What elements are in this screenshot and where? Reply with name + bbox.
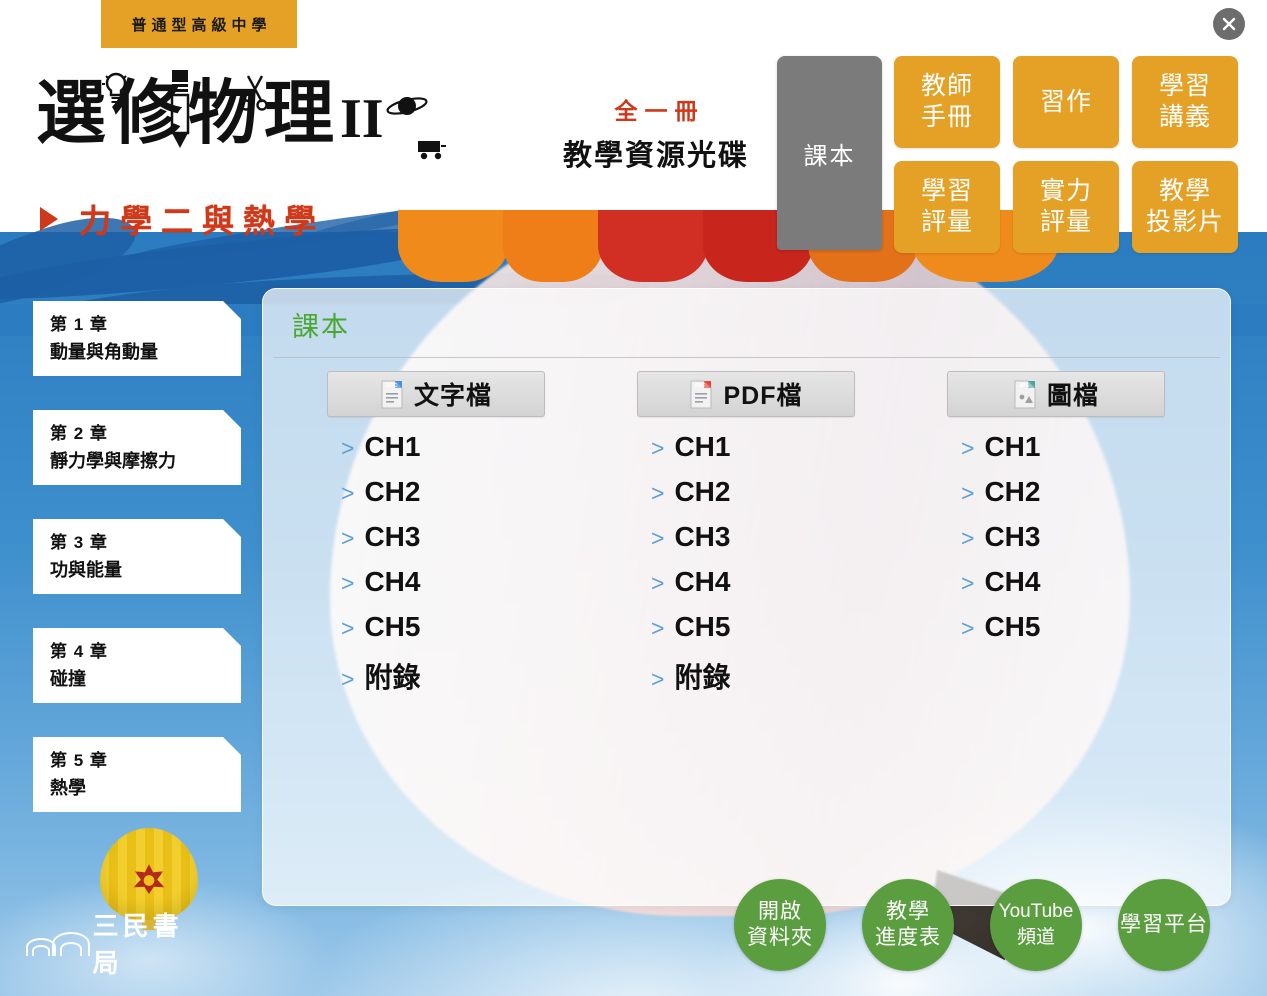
- chapter-4-number: 第 4 章: [50, 637, 108, 662]
- svg-text:JPG: JPG: [1019, 383, 1029, 389]
- topic-label: 力學二與熱學: [70, 196, 325, 242]
- topic-heading: 力學二與熱學: [40, 196, 325, 242]
- column-header-pdf-files[interactable]: PDF PDF檔: [637, 371, 855, 417]
- column-header-pdf-files-label: PDF檔: [723, 376, 802, 412]
- chapter-4-name: 碰撞: [50, 665, 86, 691]
- list-item-pdf-ch2[interactable]: > CH2: [651, 476, 901, 521]
- list-item-pdf-ch3-label: CH3: [674, 521, 730, 553]
- scissors-icon: [240, 72, 270, 112]
- tab-study-handout-line2: 講義: [1159, 102, 1211, 133]
- list-item-pdf-ch3[interactable]: > CH3: [651, 521, 901, 566]
- list-item-pdf-ch4-label: CH4: [674, 566, 730, 598]
- tab-study-assessment-line2: 評量: [921, 207, 973, 238]
- tab-textbook-label: 課本: [804, 136, 856, 171]
- column-header-image-files-label: 圖檔: [1047, 376, 1099, 412]
- chapter-2-name: 靜力學與摩擦力: [50, 447, 176, 473]
- learning-platform-line1: 學習平台: [1120, 912, 1208, 938]
- list-item-pdf-ch5[interactable]: > CH5: [651, 611, 901, 656]
- column-text-files: DOC 文字檔 > CH1 > CH2: [281, 371, 591, 701]
- action-buttons: 開啟 資料夾 教學 進度表 YouTube 頻道 學習平台: [728, 879, 1228, 979]
- tab-ability-assessment[interactable]: 實力 評量: [1013, 161, 1119, 253]
- planet-icon: [385, 92, 429, 120]
- list-item-pdf-ch1-label: CH1: [674, 431, 730, 463]
- tab-teacher-manual-line1: 教師: [921, 71, 973, 102]
- chevron-right-icon: >: [651, 527, 664, 550]
- tab-teacher-manual[interactable]: 教師 手冊: [894, 56, 1000, 148]
- pdf-file-icon: PDF: [689, 380, 713, 409]
- learning-platform-button[interactable]: 學習平台: [1118, 879, 1210, 971]
- list-item-text-ch2[interactable]: > CH2: [341, 476, 591, 521]
- list-item-image-ch2[interactable]: > CH2: [961, 476, 1211, 521]
- pencil-icon: [168, 70, 192, 148]
- list-item-pdf-ch4[interactable]: > CH4: [651, 566, 901, 611]
- page-title-volume: II: [340, 88, 384, 150]
- list-item-text-appendix[interactable]: > 附錄: [341, 656, 591, 701]
- tab-study-handout[interactable]: 學習 講義: [1132, 56, 1238, 148]
- resource-subtitle: 全一冊 教學資源光碟: [540, 92, 772, 174]
- list-item-text-ch4-label: CH4: [364, 566, 420, 598]
- youtube-channel-button[interactable]: YouTube 頻道: [990, 879, 1082, 971]
- list-item-text-ch5[interactable]: > CH5: [341, 611, 591, 656]
- school-level-label: 普通型高級中學: [126, 14, 271, 35]
- open-folder-line1: 開啟: [758, 899, 802, 925]
- column-header-text-files[interactable]: DOC 文字檔: [327, 371, 545, 417]
- chapter-5-number: 第 5 章: [50, 746, 108, 771]
- sanmin-arcs-icon: [26, 930, 85, 956]
- chapter-3-number: 第 3 章: [50, 528, 108, 553]
- chevron-right-icon: >: [651, 482, 664, 505]
- cart-icon: [415, 138, 449, 160]
- list-item-text-appendix-label: 附錄: [364, 656, 420, 696]
- svg-text:PDF: PDF: [695, 383, 705, 389]
- column-header-text-files-label: 文字檔: [414, 376, 492, 412]
- list-item-text-ch1[interactable]: > CH1: [341, 431, 591, 476]
- tab-teacher-manual-line2: 手冊: [921, 102, 973, 133]
- sidebar-item-chapter-2[interactable]: 第 2 章 靜力學與摩擦力: [33, 410, 241, 485]
- tab-study-assessment[interactable]: 學習 評量: [894, 161, 1000, 253]
- tab-teaching-slides-line2: 投影片: [1146, 207, 1224, 238]
- tab-workbook-line1: 習作: [1040, 87, 1092, 118]
- tab-textbook-active[interactable]: 課本: [777, 56, 882, 250]
- teaching-schedule-line2: 進度表: [875, 925, 941, 951]
- chevron-right-icon: >: [961, 437, 974, 460]
- sidebar-item-chapter-3[interactable]: 第 3 章 功與能量: [33, 519, 241, 594]
- teaching-schedule-line1: 教學: [886, 899, 930, 925]
- tab-teaching-slides[interactable]: 教學 投影片: [1132, 161, 1238, 253]
- youtube-channel-line2: 頻道: [1017, 925, 1055, 951]
- tab-ability-assessment-line2: 評量: [1040, 207, 1092, 238]
- chapter-5-name: 熱學: [50, 774, 86, 800]
- chevron-right-icon: >: [651, 437, 664, 460]
- doc-file-icon: DOC: [380, 380, 404, 409]
- list-item-text-ch1-label: CH1: [364, 431, 420, 463]
- chapter-1-number: 第 1 章: [50, 310, 108, 335]
- sidebar-item-chapter-4[interactable]: 第 4 章 碰撞: [33, 628, 241, 703]
- chevron-right-icon: >: [651, 617, 664, 640]
- svg-text:DOC: DOC: [386, 383, 398, 389]
- close-button[interactable]: [1213, 8, 1245, 40]
- list-item-pdf-ch2-label: CH2: [674, 476, 730, 508]
- list-item-pdf-ch1[interactable]: > CH1: [651, 431, 901, 476]
- open-folder-button[interactable]: 開啟 資料夾: [734, 879, 826, 971]
- chevron-right-icon: >: [961, 527, 974, 550]
- chevron-right-icon: >: [341, 572, 354, 595]
- publisher-logo: 三民書局: [26, 922, 206, 964]
- close-icon: [1220, 15, 1238, 33]
- list-item-image-ch3-label: CH3: [984, 521, 1040, 553]
- list-item-text-ch3-label: CH3: [364, 521, 420, 553]
- list-item-text-ch2-label: CH2: [364, 476, 420, 508]
- application-window: 普通型高級中學 選修物理II 全一冊 教學資源光碟 力學二與熱學: [0, 0, 1267, 996]
- column-pdf-files: PDF PDF檔 > CH1 > CH2: [591, 371, 901, 701]
- school-level-banner: 普通型高級中學: [101, 0, 297, 48]
- list-item-pdf-appendix[interactable]: > 附錄: [651, 656, 901, 701]
- list-item-pdf-ch5-label: CH5: [674, 611, 730, 643]
- chapter-1-name: 動量與角動量: [50, 338, 158, 364]
- pdf-file-list: > CH1 > CH2 > CH3 > CH4: [591, 431, 901, 701]
- list-item-image-ch3[interactable]: > CH3: [961, 521, 1211, 566]
- chevron-right-icon: >: [961, 617, 974, 640]
- list-item-image-ch1-label: CH1: [984, 431, 1040, 463]
- text-file-list: > CH1 > CH2 > CH3 > CH4: [281, 431, 591, 701]
- list-item-image-ch4[interactable]: > CH4: [961, 566, 1211, 611]
- panel-divider: [273, 357, 1220, 358]
- triangle-bullet-icon: [40, 207, 58, 231]
- panel-title: 課本: [292, 305, 350, 344]
- chevron-right-icon: >: [961, 572, 974, 595]
- resource-tab-grid: 教師 手冊 習作 學習 講義 學習 評量 實力 評量 教學 投影片: [894, 56, 1244, 253]
- file-type-columns: DOC 文字檔 > CH1 > CH2: [281, 371, 1211, 701]
- list-item-image-ch2-label: CH2: [984, 476, 1040, 508]
- list-item-image-ch4-label: CH4: [984, 566, 1040, 598]
- list-item-image-ch1[interactable]: > CH1: [961, 431, 1211, 476]
- youtube-channel-line1: YouTube: [999, 899, 1074, 925]
- column-image-files: JPG 圖檔 > CH1 > CH2 >: [901, 371, 1211, 701]
- chapter-2-number: 第 2 章: [50, 419, 108, 444]
- chevron-right-icon: >: [341, 527, 354, 550]
- tab-study-assessment-line1: 學習: [921, 176, 973, 207]
- teaching-schedule-button[interactable]: 教學 進度表: [862, 879, 954, 971]
- resource-disc-label: 教學資源光碟: [540, 132, 772, 174]
- chevron-right-icon: >: [341, 482, 354, 505]
- chevron-right-icon: >: [651, 572, 664, 595]
- column-header-image-files[interactable]: JPG 圖檔: [947, 371, 1165, 417]
- list-item-image-ch5[interactable]: > CH5: [961, 611, 1211, 656]
- tab-workbook[interactable]: 習作: [1013, 56, 1119, 148]
- list-item-text-ch3[interactable]: > CH3: [341, 521, 591, 566]
- list-item-pdf-appendix-label: 附錄: [674, 656, 730, 696]
- chapter-sidebar: 第 1 章 動量與角動量 第 2 章 靜力學與摩擦力 第 3 章 功與能量 第 …: [33, 301, 241, 846]
- sidebar-item-chapter-5[interactable]: 第 5 章 熱學: [33, 737, 241, 812]
- image-file-list: > CH1 > CH2 > CH3 > CH4: [901, 431, 1211, 656]
- tab-study-handout-line1: 學習: [1159, 71, 1211, 102]
- jpg-file-icon: JPG: [1013, 380, 1037, 409]
- lightbulb-icon: [101, 72, 131, 106]
- chevron-right-icon: >: [341, 668, 354, 691]
- list-item-text-ch4[interactable]: > CH4: [341, 566, 591, 611]
- content-panel: 課本 DOC 文字檔: [262, 288, 1231, 906]
- sidebar-item-chapter-1[interactable]: 第 1 章 動量與角動量: [33, 301, 241, 376]
- list-item-image-ch5-label: CH5: [984, 611, 1040, 643]
- chevron-right-icon: >: [341, 617, 354, 640]
- chevron-right-icon: >: [651, 668, 664, 691]
- open-folder-line2: 資料夾: [747, 925, 813, 951]
- volume-label: 全一冊: [540, 92, 772, 126]
- chevron-right-icon: >: [961, 482, 974, 505]
- chevron-right-icon: >: [341, 437, 354, 460]
- publisher-name: 三民書局: [93, 906, 206, 980]
- tab-teaching-slides-line1: 教學: [1159, 176, 1211, 207]
- list-item-text-ch5-label: CH5: [364, 611, 420, 643]
- chapter-3-name: 功與能量: [50, 556, 122, 582]
- tab-ability-assessment-line1: 實力: [1040, 176, 1092, 207]
